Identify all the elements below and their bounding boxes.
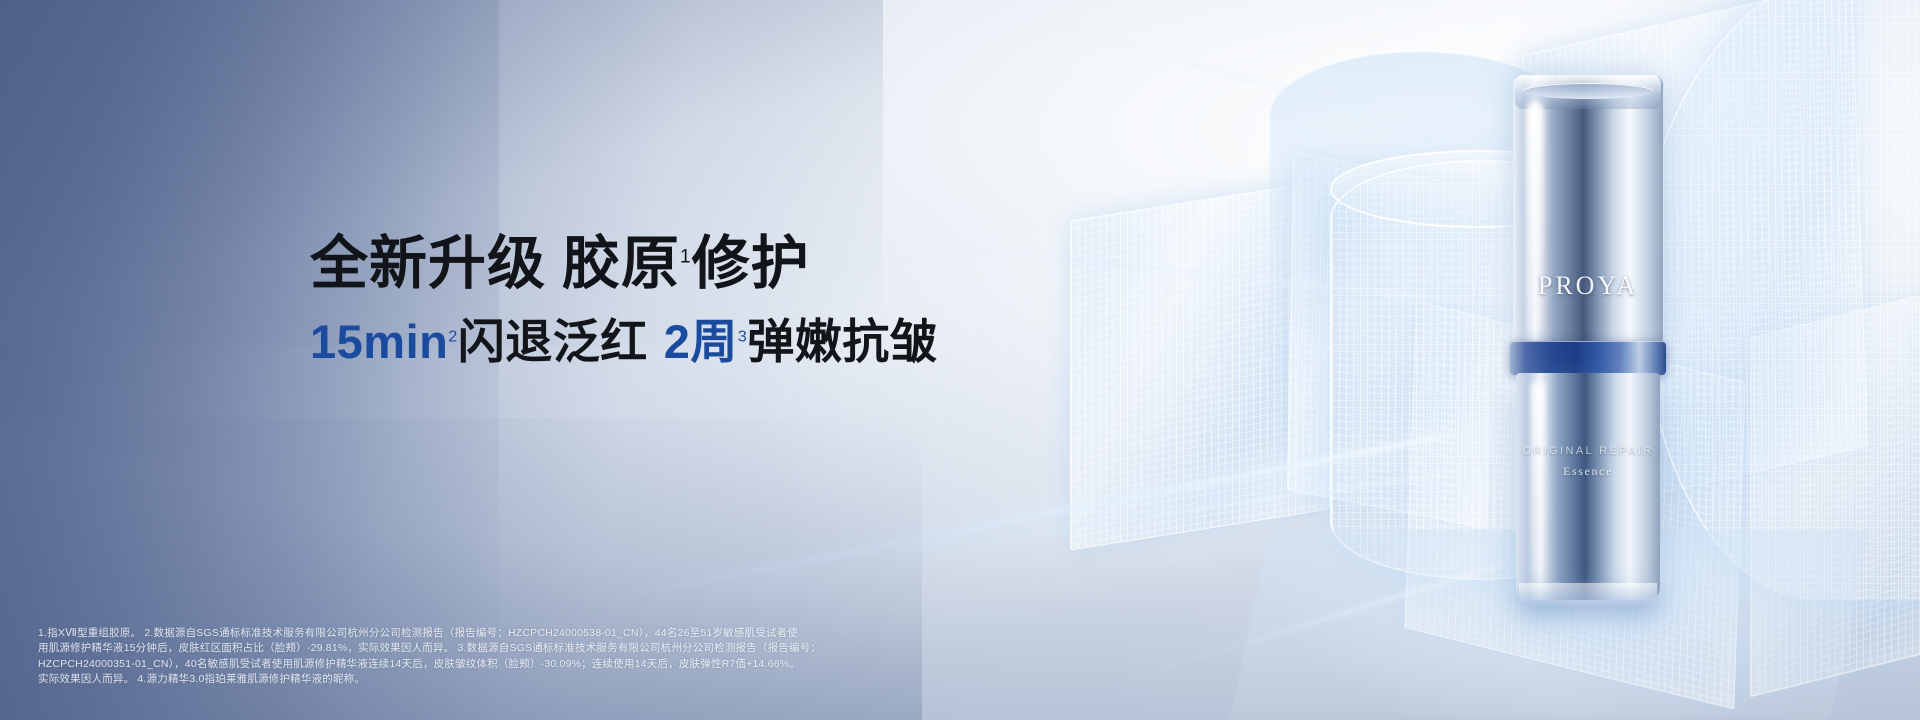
bottle-body-highlight	[1531, 381, 1545, 581]
subheadline-footnote-marker-3: 3	[738, 329, 747, 346]
footnote-line-1: 1.指XⅦ型重组胶原。 2.数据源自SGS通标标准技术服务有限公司杭州分公司检测…	[38, 626, 958, 642]
headline-part1: 全新升级	[310, 231, 546, 296]
footnote-line-2: 用肌源修护精华液15分钟后，皮肤红区面积占比（脸颊）-29.81%，实际效果因人…	[38, 641, 958, 657]
subheadline-benefit-2: 弹嫩抗皱	[747, 315, 937, 368]
headline-part2: 胶原	[562, 231, 680, 296]
footnote-line-4: 实际效果因人而异。 4.源力精华3.0指珀莱雅肌源修护精华液的昵称。	[38, 672, 958, 688]
subheadline-metric-2: 2周	[664, 315, 738, 368]
subheadline-benefit-1: 闪退泛红	[458, 315, 648, 368]
subheadline-footnote-marker-2: 2	[448, 329, 457, 346]
headline-footnote-marker: 1	[680, 247, 692, 268]
subheadline-metric-1: 15min	[310, 315, 448, 368]
bottle-type-label: Essence	[1513, 464, 1663, 479]
headline-part3: 修护	[692, 231, 810, 296]
bottle-line-label: ORIGINAL REPAIR	[1513, 445, 1663, 457]
bottle-base	[1519, 583, 1657, 605]
banner-root: PROYA ORIGINAL REPAIR Essence 全新升级胶原1修护 …	[0, 0, 1920, 720]
copy-block: 全新升级胶原1修护 15min2闪退泛红2周3弹嫩抗皱	[310, 230, 930, 371]
headline: 全新升级胶原1修护	[310, 230, 930, 298]
bottle-brand-label: PROYA	[1513, 271, 1663, 301]
product-bottle[interactable]: PROYA ORIGINAL REPAIR Essence	[1513, 75, 1663, 600]
footnotes-block: 1.指XⅦ型重组胶原。 2.数据源自SGS通标标准技术服务有限公司杭州分公司检测…	[38, 626, 958, 688]
subheadline: 15min2闪退泛红2周3弹嫩抗皱	[310, 314, 930, 370]
bottle-blue-collar	[1510, 341, 1666, 375]
footnote-line-3: HZCPCH24000351-01_CN），40名敏感肌受试者使用肌源修护精华液…	[38, 657, 958, 673]
